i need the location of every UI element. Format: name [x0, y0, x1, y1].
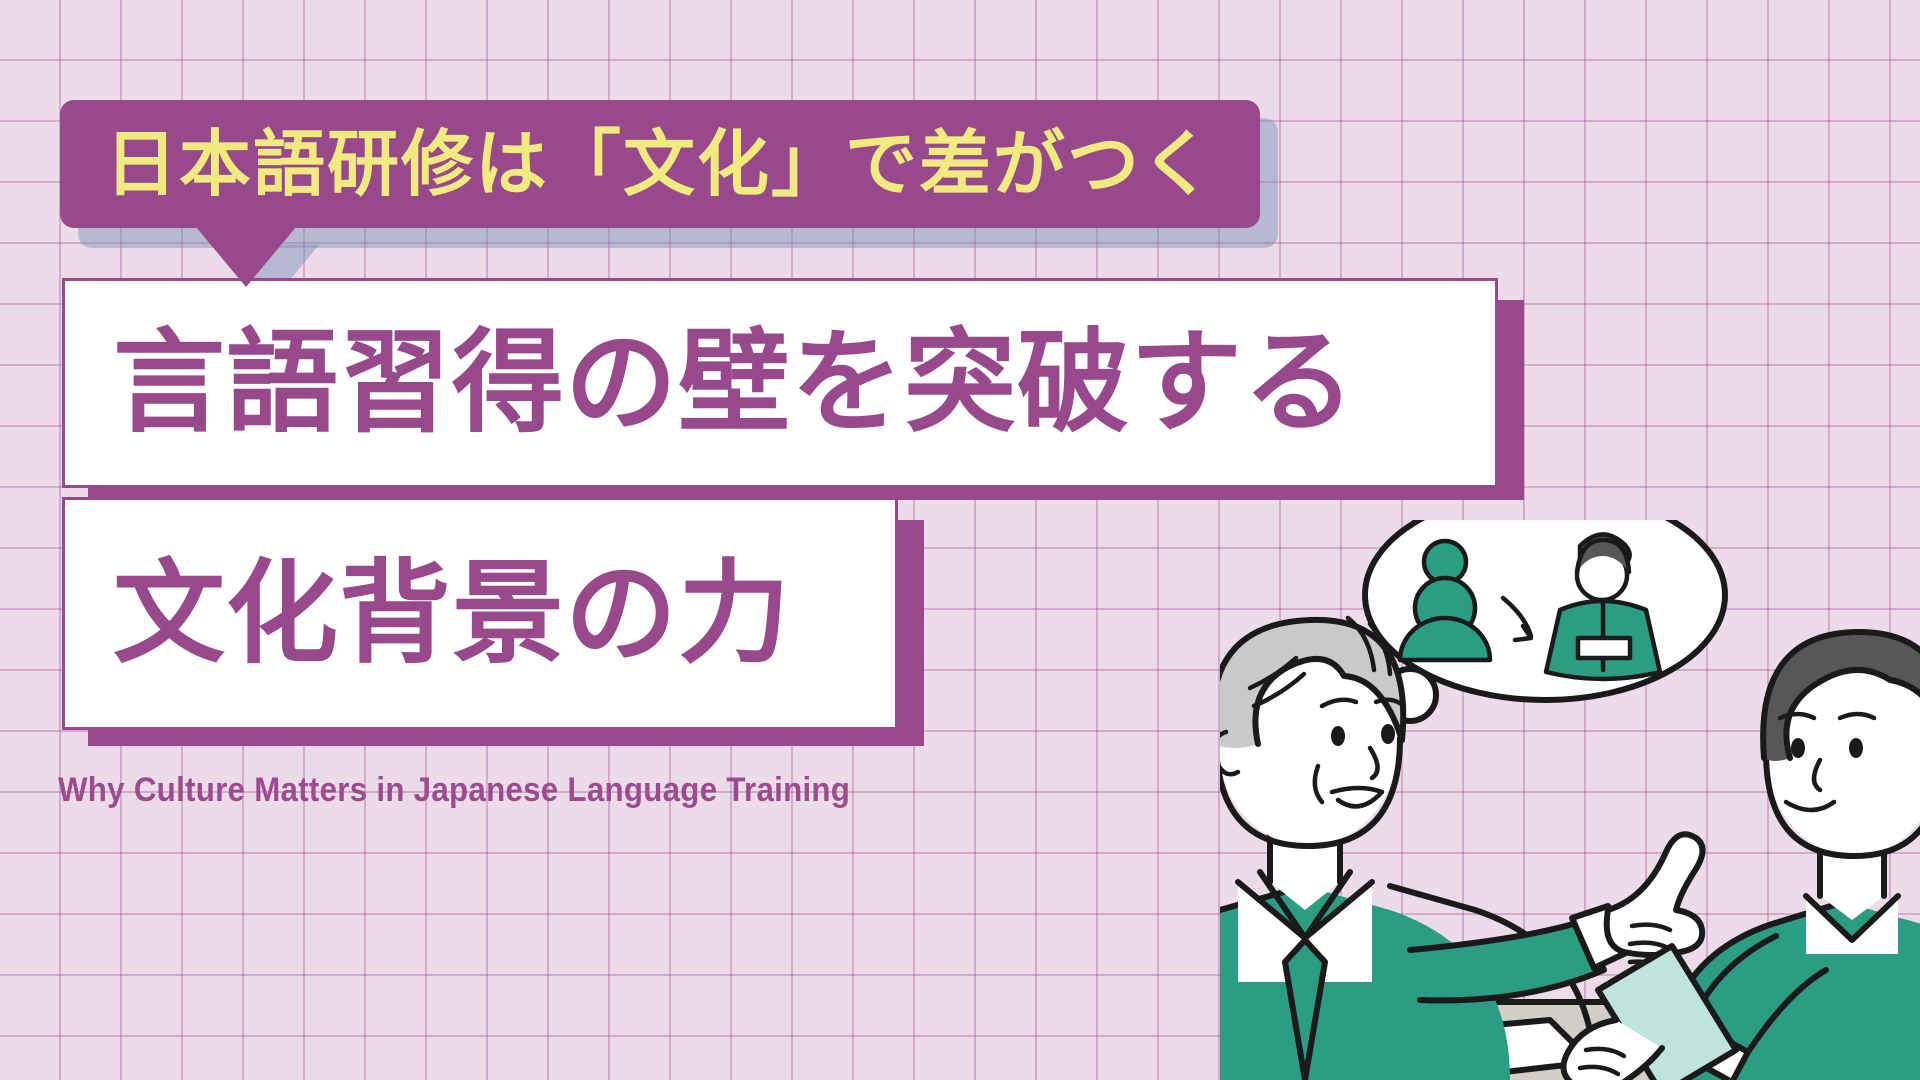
badge-pointer-tail	[196, 227, 296, 287]
headline-box-2: 文化背景の力	[62, 497, 898, 730]
headline-box-1: 言語習得の壁を突破する	[62, 278, 1498, 488]
english-subtitle: Why Culture Matters in Japanese Language…	[58, 771, 850, 810]
headline-line-2: 文化背景の力	[113, 558, 791, 670]
thumbnail-canvas: 日本語研修は「文化」で差がつく 言語習得の壁を突破する 文化背景の力 Why C…	[0, 0, 1920, 1080]
badge-banner: 日本語研修は「文化」で差がつく	[60, 100, 1260, 228]
badge-label: 日本語研修は「文化」で差がつく	[105, 128, 1215, 200]
headline-line-1: 言語習得の壁を突破する	[113, 327, 1356, 439]
